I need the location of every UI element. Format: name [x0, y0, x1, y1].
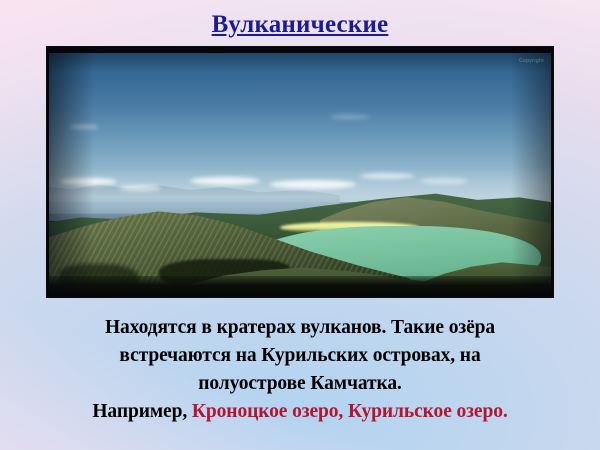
cloud-icon — [420, 178, 468, 184]
cloud-icon — [59, 178, 117, 185]
cloud-icon — [119, 185, 161, 191]
crater-lake-photo: Copyright — [49, 53, 551, 293]
cloud-icon — [360, 173, 414, 179]
cloud-icon — [69, 125, 99, 129]
photo-bottom-edge — [49, 276, 551, 293]
body-line-4: Например, Кроноцкое озеро, Курильское оз… — [16, 398, 584, 426]
photo-watermark: Copyright — [519, 58, 544, 64]
title-container: Вулканические — [0, 12, 600, 38]
page-title: Вулканические — [212, 12, 389, 38]
slide-root: Вулканические — [0, 0, 600, 450]
example-prefix: Например, — [92, 401, 192, 422]
body-text-block: Находятся в кратерах вулканов. Такие озё… — [16, 314, 584, 426]
body-line-2: встречаются на Курильских островах, на — [16, 342, 584, 370]
lake-names-highlight: Кроноцкое озеро, Курильское озеро. — [192, 401, 508, 422]
body-line-3: полуострове Камчатка. — [16, 370, 584, 398]
photo-frame: Copyright — [46, 46, 554, 298]
body-line-1: Находятся в кратерах вулканов. Такие озё… — [16, 314, 584, 342]
cloud-icon — [190, 177, 260, 185]
